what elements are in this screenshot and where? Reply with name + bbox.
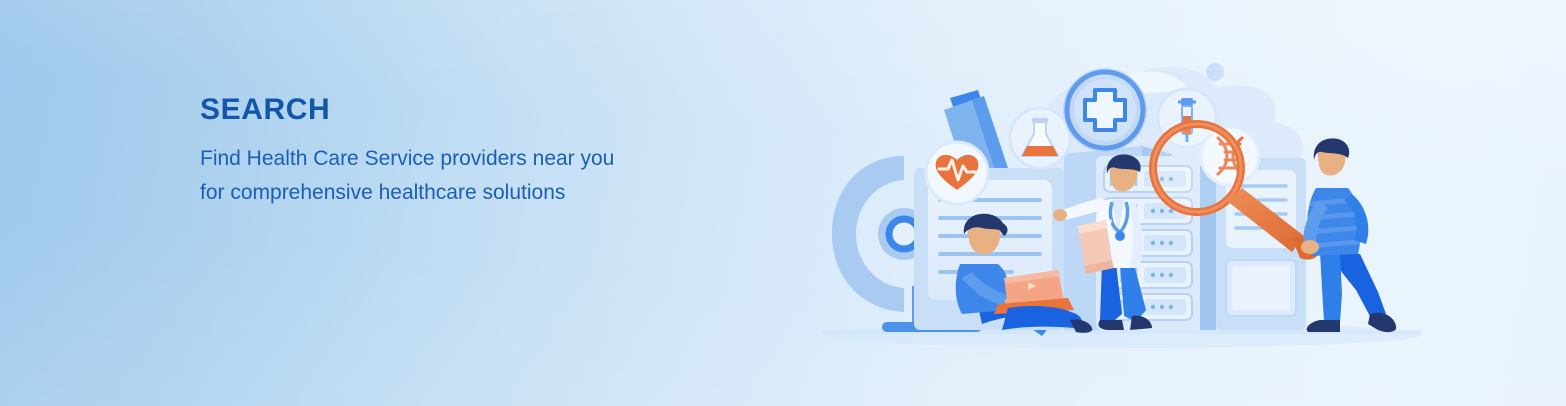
heart-pulse-icon [926, 142, 988, 204]
page-subtitle-line-1: Find Health Care Service providers near … [200, 142, 760, 176]
page-subtitle-line-2: for comprehensive healthcare solutions [200, 176, 760, 210]
page-title: SEARCH [200, 92, 760, 128]
flask-icon [1010, 108, 1070, 168]
healthcare-search-illustration [812, 38, 1432, 368]
medical-cross-icon [1063, 68, 1147, 152]
page-subtitle: Find Health Care Service providers near … [200, 142, 760, 210]
banner-text-block: SEARCH Find Health Care Service provider… [200, 92, 760, 210]
running-person-with-magnifier [1301, 138, 1396, 332]
search-banner: SEARCH Find Health Care Service provider… [0, 0, 1566, 406]
